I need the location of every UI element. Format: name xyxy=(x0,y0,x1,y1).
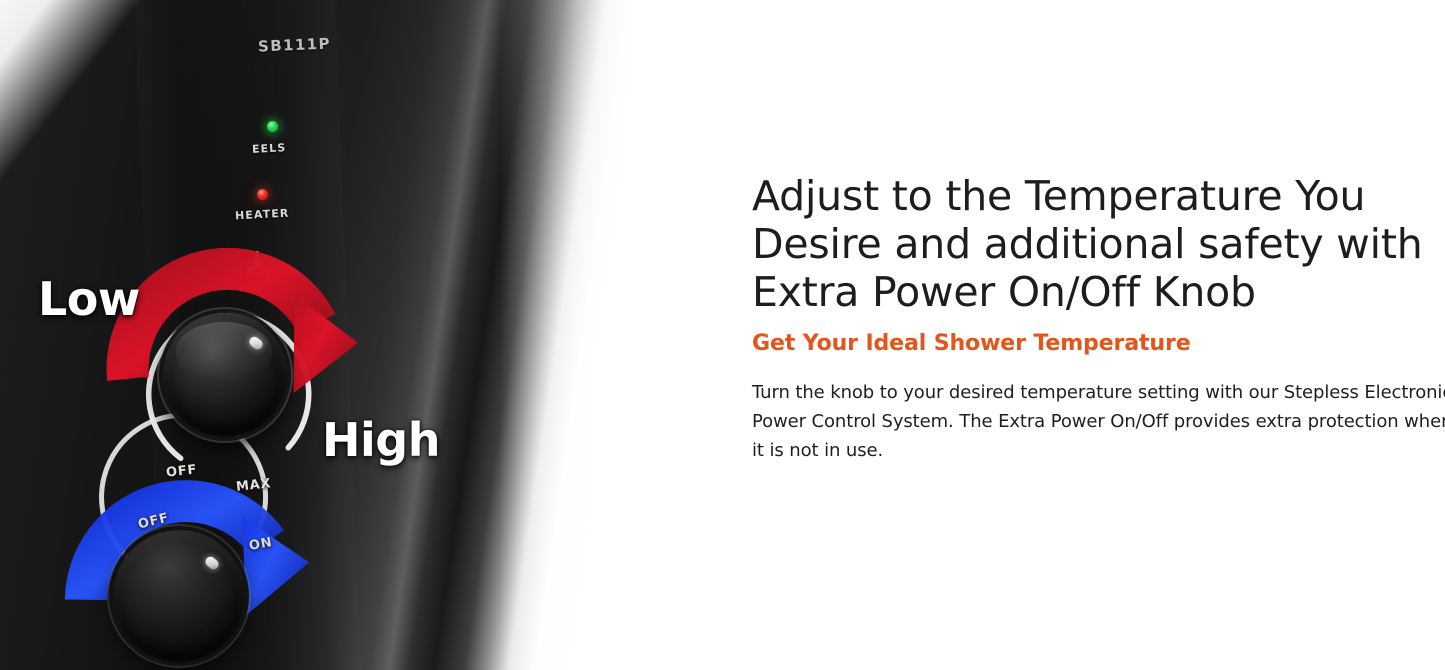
shower-head-icon xyxy=(242,249,273,279)
product-image: SB111P EELS HEATER xyxy=(0,0,730,670)
heater-led-indicator xyxy=(257,189,268,200)
model-number-label: SB111P xyxy=(258,34,332,55)
water-heater-body xyxy=(0,0,690,670)
power-knob[interactable] xyxy=(113,530,245,662)
feature-body-text: Turn the knob to your desired temperatur… xyxy=(752,378,1445,465)
eels-led-indicator xyxy=(267,121,278,132)
feature-subheadline: Get Your Ideal Shower Temperature xyxy=(752,330,1445,358)
copy-block: Adjust to the Temperature You Desire and… xyxy=(752,172,1445,465)
eels-led-label: EELS xyxy=(252,141,287,156)
feature-copy-pane: Adjust to the Temperature You Desire and… xyxy=(730,0,1445,670)
low-callout-label: Low xyxy=(38,272,140,326)
temperature-knob[interactable] xyxy=(163,313,287,437)
high-callout-label: High xyxy=(322,413,440,467)
feature-headline: Adjust to the Temperature You Desire and… xyxy=(752,172,1445,316)
feature-section: SB111P EELS HEATER xyxy=(0,0,1445,670)
